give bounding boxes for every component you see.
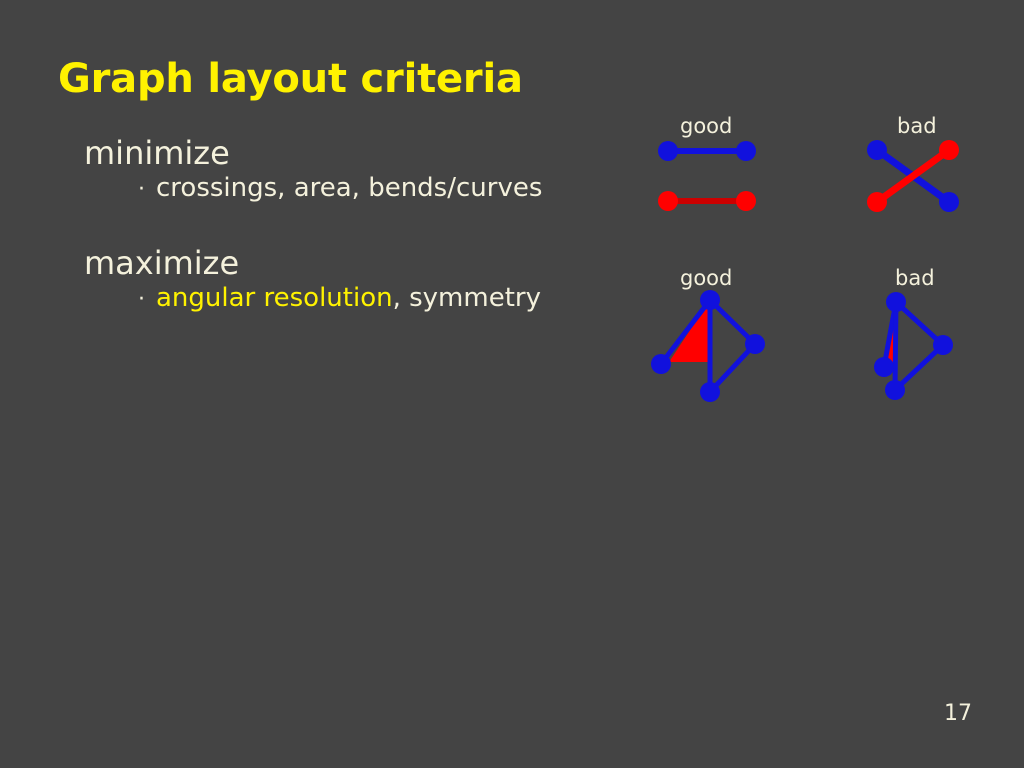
angular-bad-node [933,335,953,355]
bullet-marker: · [138,177,156,202]
bullet-marker: · [138,287,156,312]
bullet-heading-maximize: maximize [84,246,624,282]
bullet-item-crossings: ·crossings, area, bends/curves [138,174,624,204]
bullet-item-angular-resolution: ·angular resolution, symmetry [138,284,624,314]
figure-angular-resolution-bad [874,292,953,400]
angular-good-node [651,354,671,374]
body-content: minimize ·crossings, area, bends/curves … [84,136,624,313]
slide: Graph layout criteria minimize ·crossing… [0,0,1024,768]
crossings-bad-node [867,192,887,212]
crossings-bad-node [939,192,959,212]
page-number: 17 [944,701,972,726]
crossings-good-node [736,191,756,211]
page-title: Graph layout criteria [58,56,523,102]
angular-good-node [700,382,720,402]
crossings-good-node [658,141,678,161]
bullet-group-maximize: maximize ·angular resolution, symmetry [84,246,624,314]
figure-crossings-good [658,141,756,211]
crossings-bad-node [867,140,887,160]
angular-bad-node [886,292,906,312]
graph-figures-svg [620,96,1020,426]
crossings-bad-node [939,140,959,160]
crossings-good-node [736,141,756,161]
figure-angular-resolution-good [651,290,765,402]
angular-bad-node [885,380,905,400]
angular-good-node [700,290,720,310]
angular-good-node [745,334,765,354]
bullet-group-minimize: minimize ·crossings, area, bends/curves [84,136,624,204]
crossings-good-node [658,191,678,211]
angular-bad-node [874,357,894,377]
bullet-heading-minimize: minimize [84,136,624,172]
bullet-item-symmetry-label: , symmetry [393,283,541,313]
bullet-item-highlight-label: angular resolution [156,283,393,313]
group-spacer [84,204,624,246]
figure-crossings-bad [867,140,959,212]
bullet-item-crossings-label: crossings, area, bends/curves [156,173,542,203]
figure-panel: good bad good bad [620,96,1020,426]
angular-bad-edge [895,302,896,390]
